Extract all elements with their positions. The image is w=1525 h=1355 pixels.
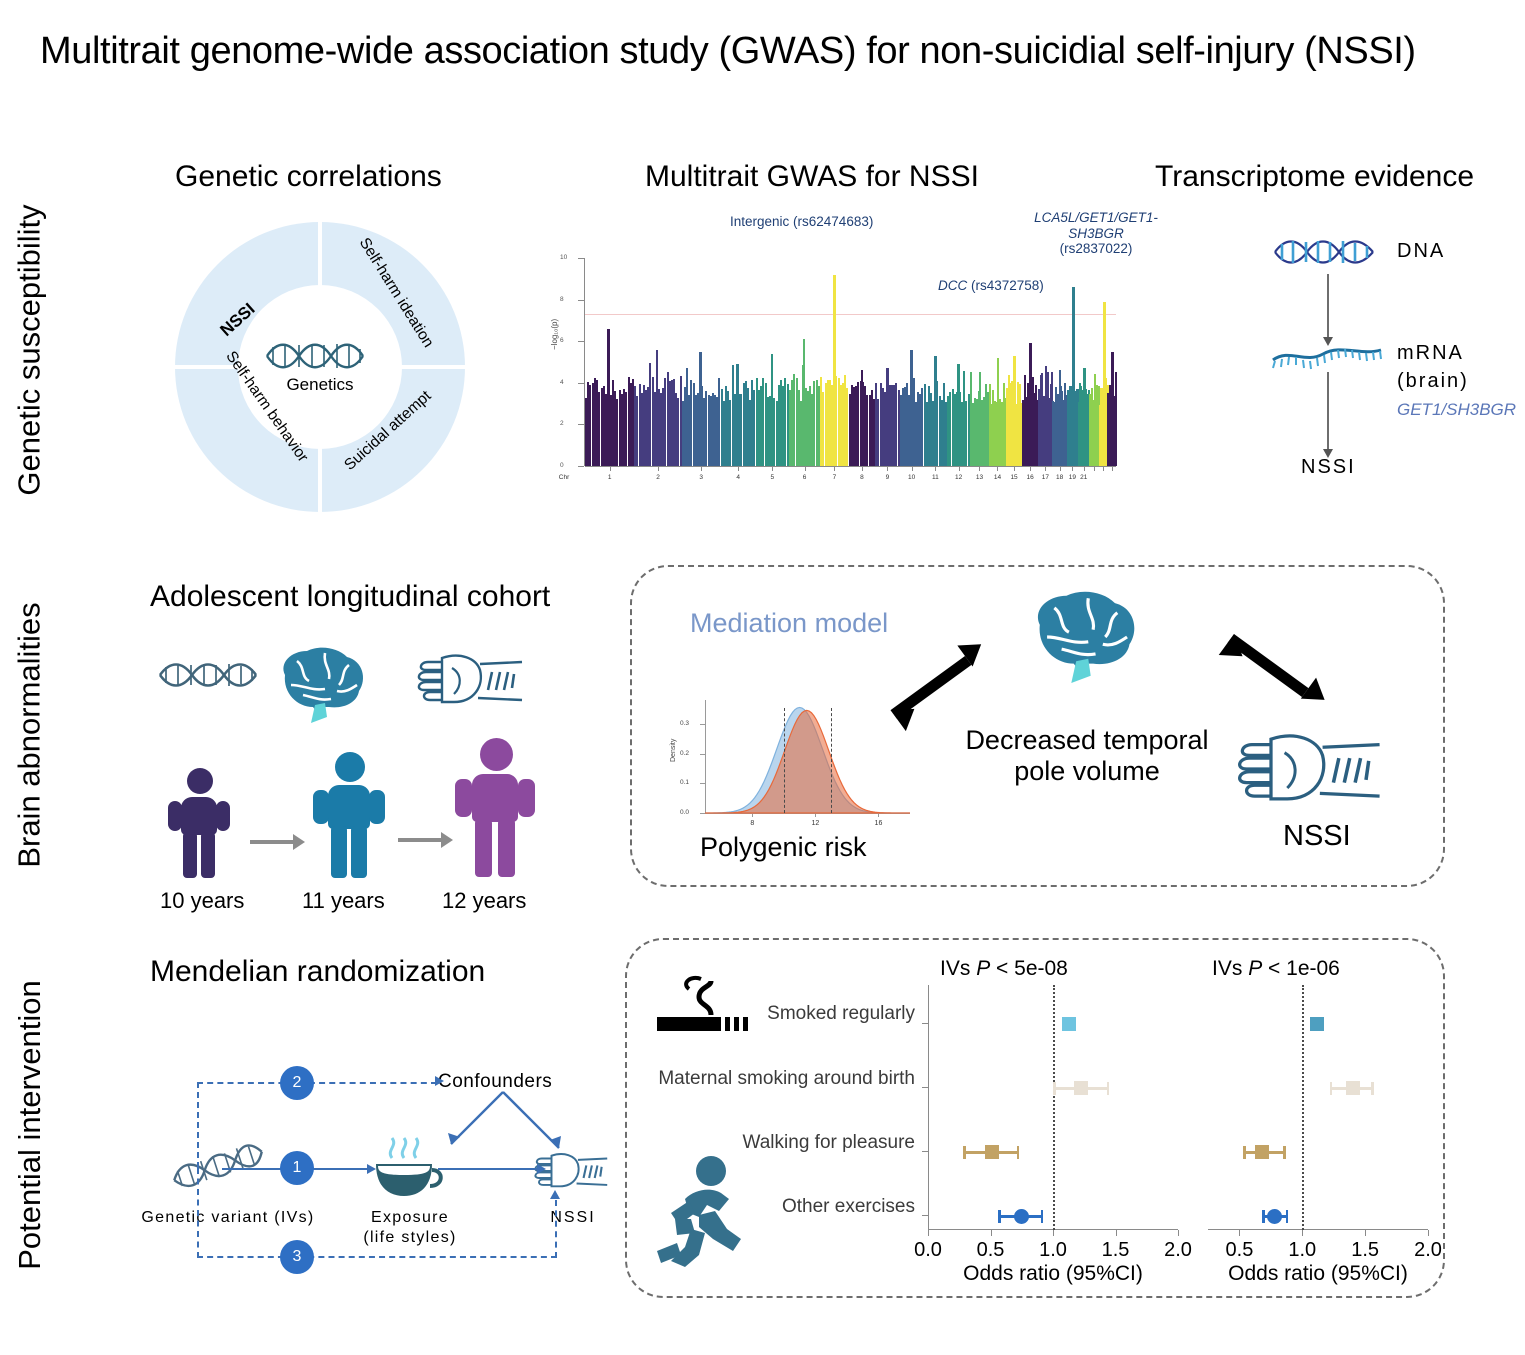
manhattan-y-tick (578, 300, 584, 301)
manhattan-peak-spike (656, 350, 658, 466)
manhattan-x-tick-label: 10 (908, 474, 915, 481)
manhattan-chromosome-column (1089, 258, 1098, 466)
mr-node-label-nssi: NSSI (528, 1208, 618, 1228)
manhattan-x-tick-label: 3 (699, 474, 703, 481)
title-prefix: IVs (940, 957, 976, 980)
manhattan-x-tick-label: 19 (1069, 474, 1076, 481)
manhattan-peak-spike (607, 329, 609, 466)
mediator-label-line2: pole volume (962, 756, 1212, 787)
manhattan-x-tick (979, 466, 980, 471)
forest-x-tick (991, 1230, 992, 1236)
manhattan-x-tick-label: 8 (860, 474, 864, 481)
density-vline-upper (831, 708, 832, 813)
person-arm-left (455, 779, 472, 817)
forest-point-estimate (1255, 1145, 1269, 1159)
manhattan-peak-spike (1094, 374, 1096, 466)
manhattan-chromosome-column (756, 258, 789, 466)
person-head (335, 752, 365, 782)
manhattan-chromosome-column (1099, 258, 1108, 466)
manhattan-x-tick (805, 466, 806, 471)
person-arm-right (518, 779, 535, 817)
forest-plot-right: IVs P < 1e-06 0.51.01.52.0 Odds ratio (9… (1208, 985, 1428, 1250)
forest-x-tick (1178, 1230, 1179, 1236)
manhattan-chromosome-column (1067, 258, 1078, 466)
manhattan-x-tick-label: 1 (608, 474, 612, 481)
forest-x-tick-label: 0.5 (1226, 1239, 1254, 1262)
forest-row-label-maternal-smoking: Maternal smoking around birth (640, 1068, 915, 1090)
manhattan-x-tick-label: 11 (932, 474, 939, 481)
density-y-tick-label: 0.0 (680, 809, 689, 816)
manhattan-y-tick-label: 0 (560, 462, 564, 469)
density-x-tick-label: 12 (811, 820, 819, 827)
manhattan-x-tick (772, 466, 773, 471)
polygenic-risk-caption: Polygenic risk (700, 832, 867, 863)
arrow-10-to-11 (250, 840, 294, 844)
manhattan-x-tick (1072, 466, 1073, 471)
manhattan-x-tick (1030, 466, 1031, 471)
person-body (181, 797, 217, 835)
forest-x-tick (928, 1230, 929, 1236)
manhattan-annotation-lca5l: LCA5L/GET1/GET1-SH3BGR (rs2837022) (1026, 210, 1166, 257)
manhattan-y-tick (578, 424, 584, 425)
exposure-line2: (life styles) (335, 1228, 485, 1248)
dna-helix-icon (1273, 236, 1385, 268)
genetic-correlations-donut: Genetics NSSI Self-harm ideation Self-ha… (175, 222, 465, 512)
person-leg-right (351, 826, 367, 878)
manhattan-y-tick (578, 466, 584, 467)
mr-path-3-vertical-left (197, 1168, 199, 1258)
mr-path-2-vertical (197, 1082, 199, 1168)
arrow-mrna-to-nssi (1327, 372, 1329, 450)
annotation-text: Intergenic (rs62474683) (730, 214, 873, 229)
ci-cap-left (998, 1210, 1001, 1223)
fist-icon (1233, 725, 1385, 813)
forest-left-x-label: Odds ratio (95%CI) (963, 1262, 1143, 1286)
forest-x-tick-label: 2.0 (1164, 1239, 1192, 1262)
manhattan-chromosome-column (1078, 258, 1089, 466)
title-suffix: < 5e-08 (990, 957, 1068, 980)
age-label-10: 10 years (160, 888, 244, 914)
manhattan-x-tick (658, 466, 659, 471)
manhattan-chromosome-column (682, 258, 721, 466)
forest-x-tick (1428, 1230, 1429, 1236)
manhattan-x-tick (997, 466, 998, 471)
manhattan-x-tick (834, 466, 835, 471)
manhattan-x-tick-label: 12 (955, 474, 962, 481)
person-leg-right (201, 832, 215, 878)
forest-point-estimate (1074, 1081, 1088, 1095)
arrow-dna-to-mrna (1327, 274, 1329, 338)
forest-x-tick-label: 1.0 (1288, 1239, 1316, 1262)
person-head (480, 738, 513, 771)
age-label-11: 11 years (302, 888, 385, 914)
person-leg-left (331, 826, 347, 878)
age-label-12: 12 years (442, 888, 526, 914)
heading-genetic-correlations: Genetic correlations (175, 160, 442, 194)
ci-cap-right (1371, 1082, 1374, 1095)
mediation-model-title: Mediation model (690, 608, 888, 639)
exposure-line1: Exposure (335, 1208, 485, 1228)
manhattan-x-tick (959, 466, 960, 471)
manhattan-peak-spike (771, 354, 773, 466)
manhattan-x-tick-label: 6 (803, 474, 807, 481)
manhattan-chromosome-column (721, 258, 756, 466)
density-y-tick-label: 0.1 (680, 779, 689, 786)
manhattan-x-tick (738, 466, 739, 471)
nssi-label: NSSI (1301, 456, 1356, 479)
forest-left-title: IVs P < 5e-08 (940, 957, 1068, 981)
manhattan-x-tick (887, 466, 888, 471)
manhattan-chromosome-column (1107, 258, 1116, 466)
manhattan-chromosome-column (1052, 258, 1066, 466)
forest-row-tick (922, 1023, 928, 1024)
person-arm-right (216, 801, 230, 831)
forest-point-estimate (1014, 1209, 1029, 1224)
manhattan-y-axis-label: −log₁₀(p) (550, 319, 559, 350)
dna-label: DNA (1397, 240, 1445, 263)
annotation-gene: DCC (938, 278, 967, 293)
manhattan-x-tick (1045, 466, 1046, 471)
manhattan-x-tick-label: 7 (833, 474, 837, 481)
manhattan-peak-spike (1072, 287, 1075, 466)
density-vline-lower (784, 708, 785, 813)
manhattan-peak-spike (1013, 356, 1015, 466)
coffee-cup-icon (368, 1132, 444, 1202)
polygenic-risk-density-chart: Density 0.00.10.20.3 81216 (672, 700, 912, 835)
manhattan-y-tick-label: 6 (560, 337, 564, 344)
row-label-text: Genetic susceptibility (12, 204, 48, 495)
row-label-genetic-susceptibility: Genetic susceptibility (0, 160, 60, 540)
annotation-text: (rs4372758) (967, 278, 1044, 293)
manhattan-y-tick (578, 341, 584, 342)
forest-point-estimate (1062, 1017, 1076, 1031)
forest-x-tick-label: 1.5 (1102, 1239, 1130, 1262)
manhattan-peak-spike (1029, 343, 1031, 466)
arrow-11-to-12 (398, 838, 442, 842)
manhattan-peak-spike (1083, 368, 1085, 466)
manhattan-x-tick-label: 13 (976, 474, 983, 481)
manhattan-x-tick (1103, 466, 1104, 471)
transcriptome-panel: DNA mRNA (brain) GET1/SH3BGR NSSI (1255, 230, 1505, 500)
person-arm-left (168, 801, 182, 831)
manhattan-x-tick (701, 466, 702, 471)
person-figure-12-years (455, 738, 535, 880)
forest-row-tick (922, 1215, 928, 1216)
manhattan-x-tick-label: 4 (736, 474, 740, 481)
manhattan-peak-spike (997, 358, 999, 466)
mr-exposure-to-nssi-line (438, 1168, 538, 1170)
mendelian-randomization-diagram: Genetic variant (IVs) Exposure (life sty… (150, 1040, 620, 1280)
row-label-text: Potential intervention (12, 980, 48, 1270)
manhattan-chromosome-column (820, 258, 848, 466)
manhattan-peak-spike (699, 352, 701, 466)
mr-path-number-3: 3 (280, 1240, 314, 1274)
manhattan-peak-spike (979, 372, 981, 466)
manhattan-x-tick-label: 16 (1027, 474, 1034, 481)
forest-right-null-line (1302, 985, 1304, 1230)
manhattan-peak-spike (934, 356, 936, 466)
manhattan-x-tick (935, 466, 936, 471)
ci-cap-right (1283, 1146, 1286, 1159)
mrna-strand-icon (1269, 342, 1387, 372)
dna-helix-icon (265, 339, 375, 373)
mrna-sublabel: (brain) (1397, 370, 1469, 393)
density-y-axis-label: Density (670, 739, 677, 762)
gene-note: GET1/SH3BGR (1397, 400, 1516, 420)
annotation-text: (rs2837022) (1060, 241, 1133, 256)
forest-point-estimate (1310, 1017, 1324, 1031)
title-suffix: < 1e-06 (1262, 957, 1340, 980)
mr-path-2-arrowhead (435, 1076, 444, 1086)
manhattan-y-tick-label: 10 (560, 254, 567, 261)
mr-node-label-exposure: Exposure (life styles) (335, 1208, 485, 1248)
manhattan-peak-spike (1103, 302, 1106, 466)
mr-path-3-horizontal (197, 1256, 557, 1258)
manhattan-x-tick-label: 15 (1010, 474, 1017, 481)
manhattan-peak-spike (1045, 366, 1047, 466)
ci-cap-right (1017, 1146, 1020, 1159)
mediator-label: Decreased temporal pole volume (962, 725, 1212, 787)
manhattan-x-tick-label: 9 (886, 474, 890, 481)
forest-x-tick-label: 2.0 (1414, 1239, 1442, 1262)
ci-cap-right (1107, 1082, 1110, 1095)
manhattan-chromosome-column (900, 258, 924, 466)
manhattan-x-tick-label: 14 (994, 474, 1001, 481)
person-head (187, 768, 213, 794)
forest-point-estimate (1346, 1081, 1360, 1095)
mr-path-number-2: 2 (280, 1066, 314, 1100)
manhattan-x-tick-label: 17 (1042, 474, 1049, 481)
manhattan-x-tick (1060, 466, 1061, 471)
person-body (472, 774, 518, 822)
forest-row-tick (922, 1151, 928, 1152)
forest-row-label-smoked-regularly: Smoked regularly (700, 1003, 915, 1025)
density-x-tick-label: 8 (750, 820, 754, 827)
density-curves (705, 700, 910, 814)
forest-x-tick-label: 0.5 (977, 1239, 1005, 1262)
mediation-outcome-label: NSSI (1283, 820, 1351, 853)
person-leg-right (498, 819, 515, 877)
manhattan-x-tick (912, 466, 913, 471)
manhattan-peak-spike (957, 364, 959, 466)
manhattan-y-tick-label: 2 (560, 420, 564, 427)
dna-helix-icon (158, 658, 264, 692)
person-leg-left (475, 819, 492, 877)
forest-right-title: IVs P < 1e-06 (1212, 957, 1340, 981)
manhattan-snp-bar (1115, 372, 1117, 466)
page-title: Multitrait genome-wide association study… (40, 30, 1500, 73)
person-figure-10-years (168, 768, 230, 880)
manhattan-x-tick-label: 2 (656, 474, 660, 481)
manhattan-y-tick (578, 383, 584, 384)
row-label-brain-abnormalities: Brain abnormalities (0, 565, 60, 905)
ci-cap-left (1262, 1210, 1265, 1223)
manhattan-chromosome-column (875, 258, 900, 466)
row-label-text: Brain abnormalities (12, 602, 48, 867)
mr-confounder-arrows (435, 1088, 575, 1168)
brain-icon (267, 645, 371, 725)
forest-right-x-axis (1208, 1229, 1428, 1230)
heading-adolescent-cohort: Adolescent longitudinal cohort (150, 580, 550, 614)
manhattan-annotation-dcc: DCC (rs4372758) (938, 278, 1044, 294)
forest-x-tick-label: 0.0 (914, 1239, 942, 1262)
donut-center: Genetics (238, 285, 402, 449)
row-label-potential-intervention: Potential intervention (0, 940, 60, 1310)
person-body (328, 785, 370, 829)
forest-x-tick-label: 1.0 (1039, 1239, 1067, 1262)
mr-path-3-vertical-right (555, 1200, 557, 1258)
manhattan-peak-spike (1111, 352, 1113, 466)
forest-x-tick (1053, 1230, 1054, 1236)
title-italic: P (1248, 957, 1262, 980)
brain-icon (1018, 588, 1144, 686)
forest-x-tick (1365, 1230, 1366, 1236)
forest-plot-left: IVs P < 5e-08 0.00.51.01.52.0 Odds ratio… (928, 985, 1178, 1250)
ci-cap-left (1053, 1082, 1056, 1095)
manhattan-x-tick (1084, 466, 1085, 471)
forest-x-tick (1302, 1230, 1303, 1236)
heading-mendelian-randomization: Mendelian randomization (150, 955, 485, 989)
title-prefix: IVs (1212, 957, 1248, 980)
manhattan-x-tick-label: 18 (1056, 474, 1063, 481)
mr-path-3-arrowhead (550, 1190, 560, 1199)
manhattan-peak-spike (736, 364, 738, 466)
manhattan-x-tick (1094, 466, 1095, 471)
manhattan-x-tick-label: Chr (559, 474, 569, 481)
manhattan-x-tick-label: 5 (770, 474, 774, 481)
forest-left-null-line (1053, 985, 1055, 1230)
forest-row-label-other-exercises: Other exercises (700, 1196, 915, 1218)
heading-multitrait-gwas: Multitrait GWAS for NSSI (645, 160, 979, 194)
manhattan-plot: −log₁₀(p) 0246810 Chr1234567891011121314… (556, 258, 1116, 508)
manhattan-y-tick (578, 258, 584, 259)
forest-x-tick (1239, 1230, 1240, 1236)
forest-x-tick-label: 1.5 (1351, 1239, 1379, 1262)
forest-left-spine (928, 985, 929, 1230)
ci-cap-right (1286, 1210, 1289, 1223)
density-x-tick-label: 16 (875, 820, 883, 827)
ci-cap-right (1041, 1210, 1044, 1223)
annotation-gene: LCA5L/GET1/GET1-SH3BGR (1034, 210, 1158, 241)
ci-cap-left (1243, 1146, 1246, 1159)
manhattan-chromosome-column (634, 258, 681, 466)
density-y-tick-label: 0.3 (680, 720, 689, 727)
forest-row-label-walking: Walking for pleasure (700, 1132, 915, 1154)
mediator-label-line1: Decreased temporal (962, 725, 1212, 756)
mr-path-number-1: 1 (280, 1151, 314, 1185)
donut-center-label: Genetics (286, 375, 353, 395)
manhattan-y-tick-label: 4 (560, 379, 564, 386)
person-arm-left (313, 790, 329, 824)
manhattan-x-axis (585, 466, 1116, 467)
manhattan-peak-spike (861, 370, 863, 466)
ci-cap-left (963, 1146, 966, 1159)
mrna-label: mRNA (1397, 342, 1464, 365)
adolescent-cohort-panel: 10 years 11 years 12 years (150, 640, 590, 895)
manhattan-peak-spike (1059, 370, 1061, 466)
person-leg-left (183, 832, 197, 878)
person-figure-11-years (313, 752, 385, 880)
manhattan-y-tick-label: 8 (560, 296, 564, 303)
manhattan-chromosome-column (789, 258, 820, 466)
manhattan-x-tick (862, 466, 863, 471)
mr-node-label-genetic-variant: Genetic variant (IVs) (128, 1208, 328, 1228)
manhattan-x-tick-label: 21 (1080, 474, 1087, 481)
ci-cap-left (1330, 1082, 1333, 1095)
forest-point-estimate (985, 1145, 999, 1159)
person-arm-right (369, 790, 385, 824)
density-y-tick-label: 0.2 (680, 750, 689, 757)
forest-point-estimate (1267, 1209, 1282, 1224)
manhattan-peak-spike (803, 339, 805, 466)
manhattan-x-tick (610, 466, 611, 471)
manhattan-peak-spike (833, 275, 836, 466)
dna-helix-icon (170, 1140, 266, 1192)
mr-path-2-horizontal (197, 1082, 437, 1084)
manhattan-chromosome-column (849, 258, 876, 466)
forest-x-tick (1116, 1230, 1117, 1236)
manhattan-annotation-intergenic: Intergenic (rs62474683) (730, 214, 873, 230)
heading-transcriptome-evidence: Transcriptome evidence (1155, 160, 1474, 194)
forest-right-x-label: Odds ratio (95%CI) (1228, 1262, 1408, 1286)
title-italic: P (976, 957, 990, 980)
manhattan-x-tick (1112, 466, 1113, 471)
density-curve-case (705, 710, 910, 813)
manhattan-chromosome-column (585, 258, 634, 466)
fist-icon (414, 648, 526, 712)
manhattan-peak-spike (886, 368, 888, 466)
forest-row-tick (922, 1087, 928, 1088)
manhattan-peak-spike (910, 350, 912, 466)
manhattan-x-tick (1014, 466, 1015, 471)
